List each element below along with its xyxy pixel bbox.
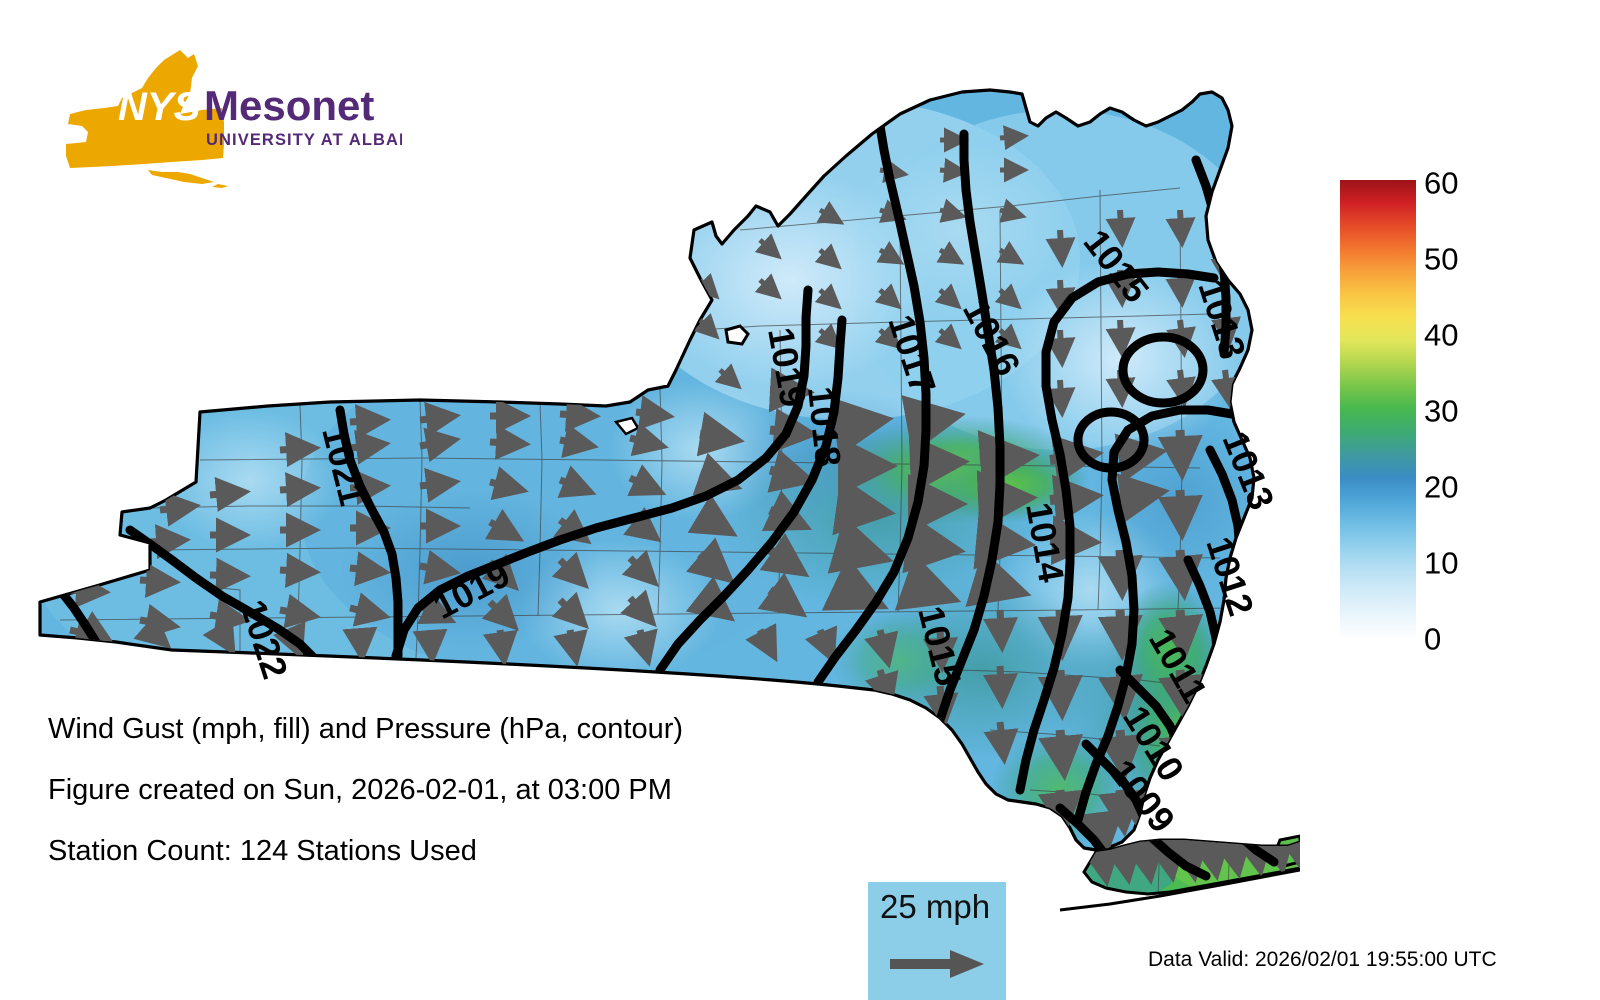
reference-vector-legend: 25 mph	[868, 882, 1006, 1000]
caption-line-created: Figure created on Sun, 2026-02-01, at 03…	[48, 776, 683, 805]
colorbar-tick: 30	[1424, 396, 1458, 427]
caption-line-station-count: Station Count: 124 Stations Used	[48, 837, 683, 866]
colorbar-tick: 40	[1424, 320, 1458, 351]
colorbar-tick: 0	[1424, 624, 1441, 655]
colorbar-tick-labels: 60 50 40 30 20 10 0	[1424, 180, 1574, 638]
colorbar-tick: 50	[1424, 244, 1458, 275]
lake-inlet-marker	[726, 326, 748, 344]
colorbar-tick: 10	[1424, 548, 1458, 579]
weather-map-figure: NYS Mesonet UNIVERSITY AT ALBANY	[0, 0, 1600, 1000]
colorbar-tick: 60	[1424, 168, 1458, 199]
wind-gust-colorbar: 60 50 40 30 20 10 0	[1340, 180, 1580, 650]
data-valid-timestamp: Data Valid: 2026/02/01 19:55:00 UTC	[1148, 948, 1497, 972]
reference-vector-label: 25 mph	[880, 888, 990, 926]
caption-line-variables: Wind Gust (mph, fill) and Pressure (hPa,…	[48, 715, 683, 744]
figure-caption: Wind Gust (mph, fill) and Pressure (hPa,…	[48, 715, 683, 898]
contour-label: 1018	[800, 385, 849, 469]
colorbar-tick: 20	[1424, 472, 1458, 503]
colorbar-gradient	[1340, 180, 1416, 638]
reference-vector-arrow-icon	[888, 944, 988, 984]
